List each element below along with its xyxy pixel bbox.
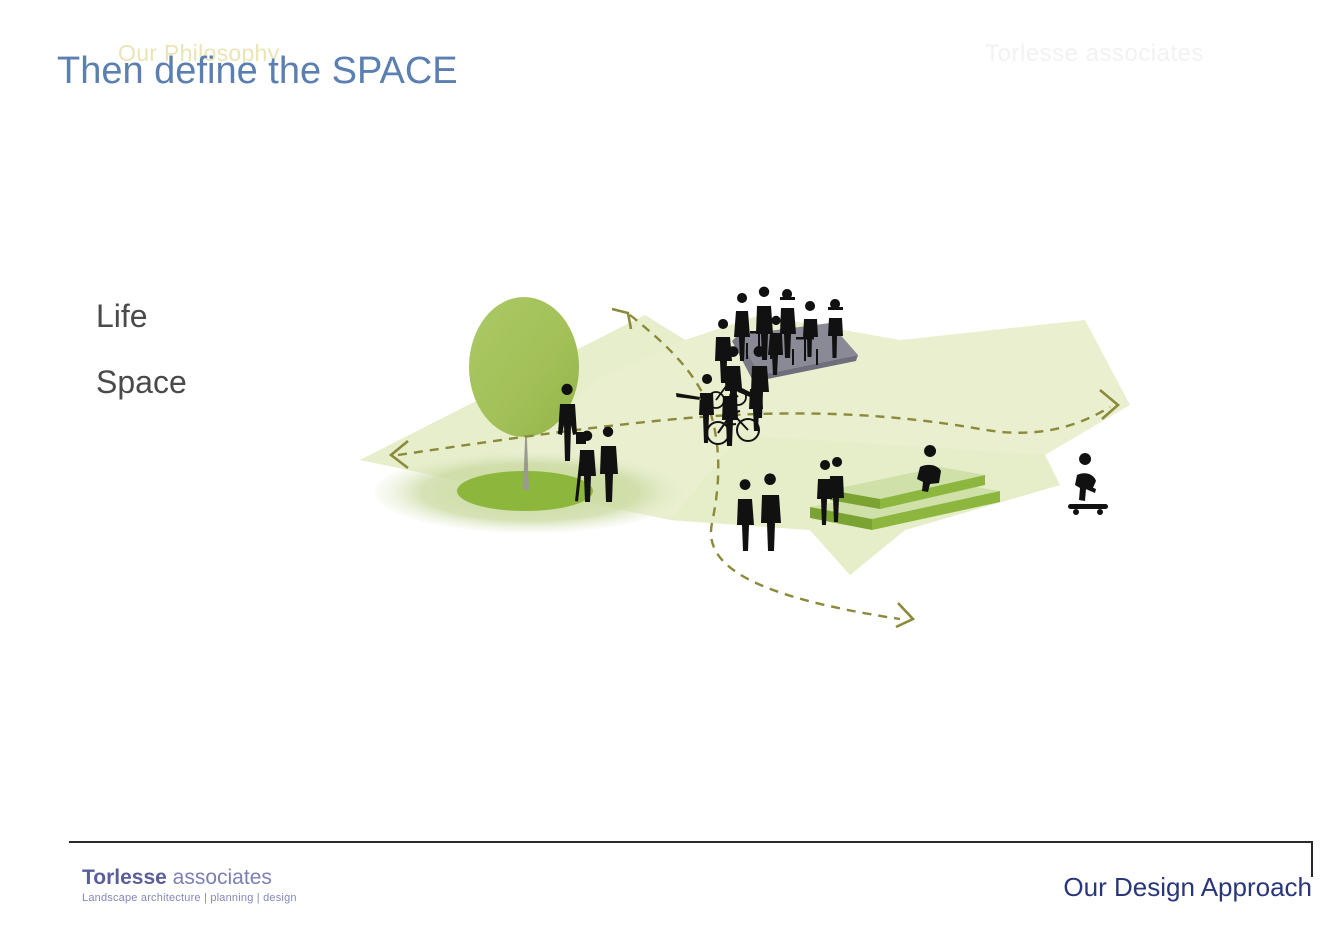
footer-section-label: Our Design Approach [1063,872,1312,903]
concept-word-stack: Life Space [96,300,356,432]
arrow-south [896,603,913,627]
watermark-brand-text: Torlesse associates [985,40,1204,68]
brand-name-light: associates [167,866,272,889]
footer-divider [69,841,1312,843]
concept-word-space: Space [96,366,356,398]
tree-base [375,451,685,533]
public-space-diagram [340,285,1160,645]
brand-name-strong: Torlesse [82,866,167,889]
brand-name: Torlesse associates [82,866,297,890]
page-title: Then define the SPACE [57,50,458,93]
brand-logo: Torlesse associates Landscape architectu… [82,866,297,904]
concept-word-life: Life [96,300,356,332]
brand-tagline: Landscape architecture | planning | desi… [82,892,297,904]
skateboarder [1068,453,1108,515]
slide: Our Philosophy Then define the SPACE Tor… [0,0,1344,951]
